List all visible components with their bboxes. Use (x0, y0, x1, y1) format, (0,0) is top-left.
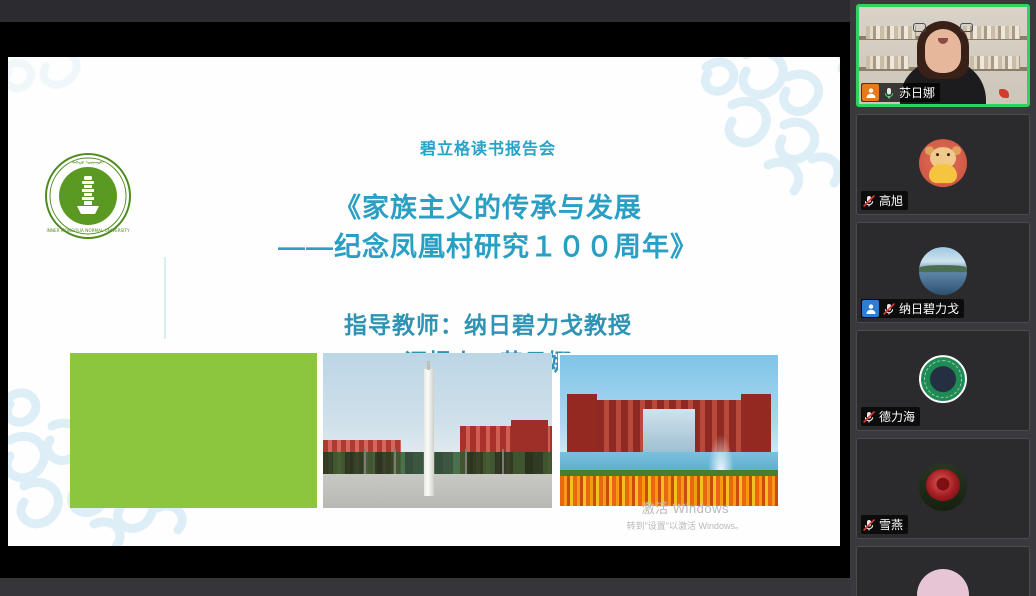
participant-tile-xueyan[interactable]: 雪燕 (856, 438, 1030, 539)
screen-share-bottom-bar (0, 578, 850, 596)
participant-name: 德力海 (879, 408, 915, 425)
slide-photo-strip (70, 353, 780, 508)
inner-mongolia-normal-university-logo: ᠳᠡᠭᠡᠳᠦ ᠰᠤᠷᠭᠠᠭᠤᠯᠢ INNER MONGOLIA NORMAL U… (44, 152, 132, 240)
participant-tile-gaoxu[interactable]: 高旭 (856, 114, 1030, 215)
host-badge-icon (862, 84, 879, 101)
cartoon-bear-avatar (919, 139, 967, 187)
participant-name-bar: 雪燕 (861, 515, 908, 534)
microphone-icon (882, 86, 896, 100)
participant-tile-active-speaker[interactable]: 苏日娜 (856, 4, 1030, 107)
participant-tile-delihai[interactable]: 德力海 (856, 330, 1030, 431)
presentation-slide[interactable]: ᠳᠡᠭᠡᠳᠦ ᠰᠤᠷᠭᠠᠭᠤᠯᠢ INNER MONGOLIA NORMAL U… (8, 57, 840, 546)
microphone-muted-icon (862, 194, 876, 208)
participant-name-bar: 德力海 (861, 407, 920, 426)
slide-photo-campus-monument (323, 353, 552, 508)
slide-photo-campus-lake (558, 353, 780, 508)
watermark-line-2: 转到"设置"以激活 Windows。 (627, 519, 744, 532)
microphone-muted-icon (862, 518, 876, 532)
slide-advisor-line: 指导教师：纳日碧力戈教授 (158, 307, 818, 344)
lake-landscape-avatar (919, 247, 967, 295)
participant-name: 高旭 (879, 192, 903, 209)
participant-name-bar: 纳日碧力戈 (861, 299, 964, 318)
slide-text-block: 碧立格读书报告会 《家族主义的传承与发展 ——纪念凤凰村研究１００周年》 指导教… (158, 135, 818, 381)
participant-name: 苏日娜 (899, 84, 935, 101)
screen-share-top-bar (0, 0, 850, 22)
slide-kicker: 碧立格读书报告会 (158, 135, 818, 159)
green-emblem-avatar (919, 355, 967, 403)
watermark-line-1: 激活 Windows (627, 498, 744, 517)
screen-root: ᠳᠡᠭᠡᠳᠦ ᠰᠤᠷᠭᠠᠭᠤᠯᠢ INNER MONGOLIA NORMAL U… (0, 0, 1036, 596)
red-rose-avatar (919, 463, 967, 511)
participant-video-rail[interactable]: 苏日娜 (850, 0, 1036, 596)
slide-title-line-1: 《家族主义的传承与发展 (158, 189, 818, 228)
slide-title-line-2: ——纪念凤凰村研究１００周年》 (158, 228, 818, 267)
microphone-muted-icon (882, 302, 896, 316)
participant-tile-naribilige[interactable]: 纳日碧力戈 (856, 222, 1030, 323)
shared-screen-region[interactable]: ᠳᠡᠭᠡᠳᠦ ᠰᠤᠷᠭᠠᠭᠤᠯᠢ INNER MONGOLIA NORMAL U… (0, 0, 850, 596)
participant-tile-partial[interactable] (856, 546, 1030, 596)
slide-photo-green-placeholder (70, 353, 317, 508)
participant-name: 雪燕 (879, 516, 903, 533)
microphone-muted-icon (862, 410, 876, 424)
pink-avatar (917, 569, 969, 596)
participant-name: 纳日碧力戈 (899, 300, 959, 317)
svg-text:INNER MONGOLIA NORMAL UNIVERSI: INNER MONGOLIA NORMAL UNIVERSITY (46, 228, 130, 233)
participant-name-bar: 高旭 (861, 191, 908, 210)
cohost-badge-icon (862, 300, 879, 317)
participant-name-bar: 苏日娜 (861, 83, 940, 102)
windows-activation-watermark: 激活 Windows 转到"设置"以激活 Windows。 (627, 498, 744, 532)
cloud-swirl-decoration-top-left-icon (8, 57, 114, 131)
